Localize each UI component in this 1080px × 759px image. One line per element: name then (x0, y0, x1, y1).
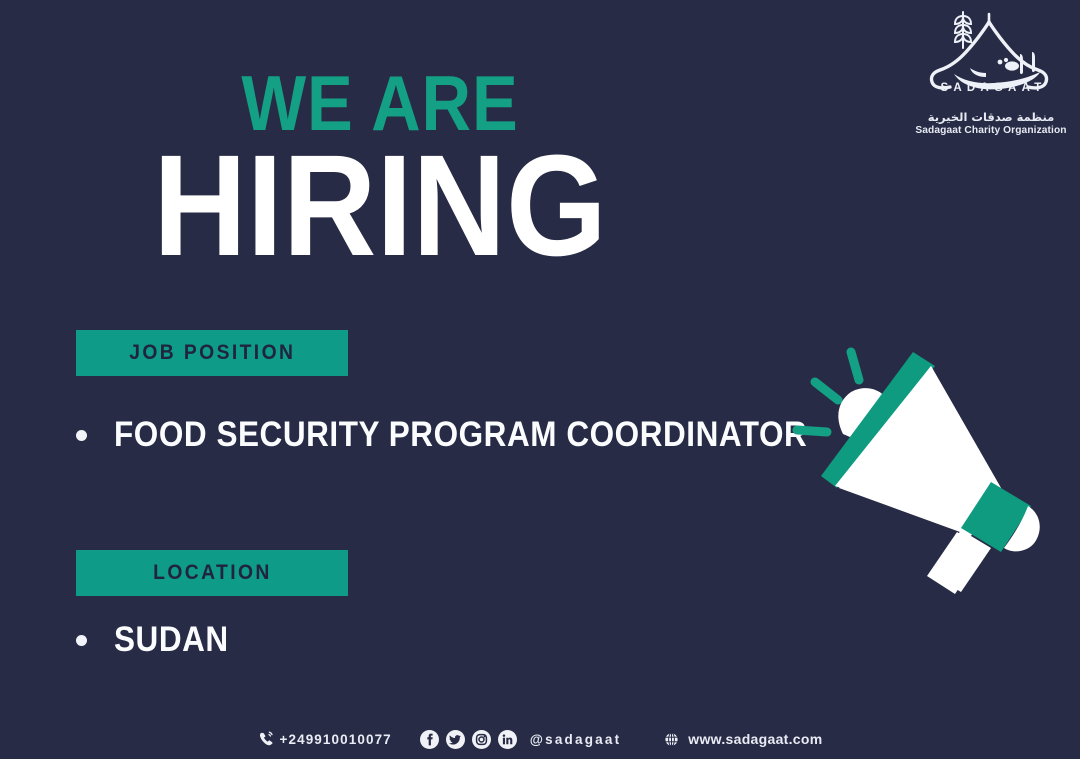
dome-wheat-icon: SADAGAAT (916, 4, 1066, 108)
bullet-icon (76, 430, 87, 441)
phone-number: +249910010077 (280, 732, 392, 747)
location-value: SUDAN (114, 620, 229, 660)
globe-icon (662, 730, 681, 749)
headline: WE ARE HIRING (0, 72, 760, 267)
social-icons: @sadagaat (420, 730, 622, 749)
headline-line-2: HIRING (38, 146, 722, 267)
footer-phone[interactable]: +249910010077 (258, 731, 392, 748)
facebook-icon[interactable] (420, 730, 439, 749)
badge-location: LOCATION (76, 550, 348, 596)
footer-contact-bar: +249910010077 (0, 722, 1080, 756)
megaphone-illustration (785, 330, 1060, 615)
twitter-icon[interactable] (446, 730, 465, 749)
list-item-location: SUDAN (76, 620, 241, 660)
linkedin-icon[interactable] (498, 730, 517, 749)
social-handle: @sadagaat (530, 732, 622, 747)
bullet-icon (76, 635, 87, 646)
badge-job-position: JOB POSITION (76, 330, 348, 376)
logo-subtitle-english: Sadagaat Charity Organization (915, 124, 1066, 137)
phone-icon (258, 731, 275, 748)
website-url: www.sadagaat.com (688, 731, 822, 747)
logo-wordmark: SADAGAAT (916, 82, 1066, 94)
badge-location-label: LOCATION (153, 561, 272, 585)
hiring-poster: SADAGAAT منظمة صدقات الخيرية Sadagaat Ch… (0, 0, 1080, 759)
organization-logo: SADAGAAT منظمة صدقات الخيرية Sadagaat Ch… (906, 4, 1076, 154)
instagram-icon[interactable] (472, 730, 491, 749)
logo-subtitle-arabic: منظمة صدقات الخيرية (928, 110, 1055, 124)
list-item-job-position: FOOD SECURITY PROGRAM COORDINATOR (76, 415, 884, 455)
job-position-value: FOOD SECURITY PROGRAM COORDINATOR (114, 415, 807, 455)
badge-job-position-label: JOB POSITION (129, 341, 295, 365)
footer-website[interactable]: www.sadagaat.com (662, 730, 822, 749)
